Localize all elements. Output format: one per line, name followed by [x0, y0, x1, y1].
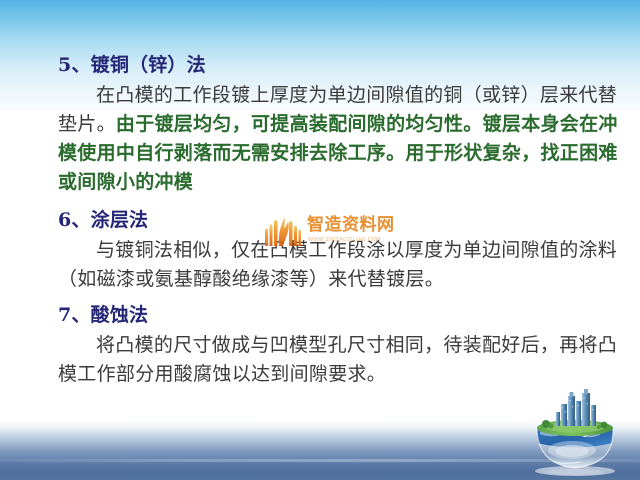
- section-paragraph-6: 与镀铜法相似，仅在凸模工作段涂以厚度为单边间隙值的涂料（如磁漆或氨基醇酸绝缘漆等…: [58, 236, 636, 294]
- glass-globe-city-illustration: [520, 388, 630, 476]
- section-heading-5: 5、镀铜（锌）法: [58, 53, 206, 77]
- paragraph-run-normal: 将凸模的尺寸做成与凹模型孔尺寸相同，待装配好后，再将凸模工作部分用酸腐蚀以达到间…: [58, 334, 617, 385]
- section-heading-6: 6、涂层法: [58, 208, 148, 232]
- slide-canvas: 5、镀铜（锌）法 在凸模的工作段镀上厚度为单边间隙值的铜（或锌）层来代替垫片。由…: [0, 0, 640, 480]
- section-paragraph-5: 在凸模的工作段镀上厚度为单边间隙值的铜（或锌）层来代替垫片。由于镀层均匀，可提高…: [58, 81, 636, 197]
- section-paragraph-7: 将凸模的尺寸做成与凹模型孔尺寸相同，待装配好后，再将凸模工作部分用酸腐蚀以达到间…: [58, 331, 636, 389]
- paragraph-run-normal: 与镀铜法相似，仅在凸模工作段涂以厚度为单边间隙值的涂料（如磁漆或氨基醇酸绝缘漆等…: [58, 239, 617, 290]
- section-heading-7: 7、酸蚀法: [58, 303, 148, 327]
- paragraph-run-emphasis: 由于镀层均匀，可提高装配间隙的均匀性。镀层本身会在冲模使用中自行剥落而无需安排去…: [58, 113, 618, 193]
